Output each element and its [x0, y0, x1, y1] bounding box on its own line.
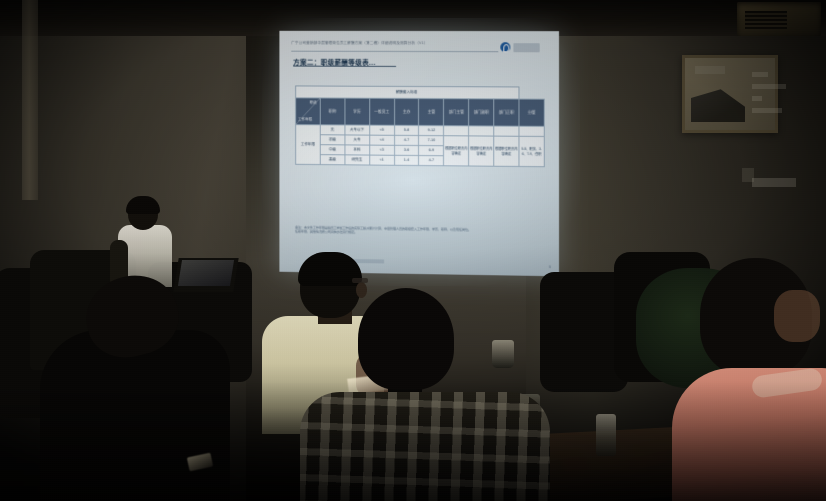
row-value [444, 126, 469, 136]
presentation-slide: 广宁公司营销部中层管理岗位员工薪酬方案（第二稿）详细说明及测算分析（V1） 方案… [279, 31, 559, 276]
row-value-merged: 根据职位职责内容确定 [469, 136, 494, 166]
row-title: 初级 [320, 135, 345, 145]
table-header-cell: 主办 [394, 98, 419, 125]
row-education: 本科 [345, 145, 370, 155]
conference-room-photo: 广宁公司营销部中层管理岗位员工薪酬方案（第二稿）详细说明及测算分析（V1） 方案… [0, 0, 826, 501]
ceiling-light-fixture [737, 2, 821, 36]
table-header-cell: 部门主管 [444, 99, 469, 126]
table-header-cell: 部门副职 [469, 99, 494, 126]
salary-grade-table: 薪酬套入标准 职级 工作年限 职称 学历 一般员工 主办 主管 [295, 85, 545, 167]
table-corner-cell: 职级 工作年限 [296, 98, 321, 125]
footer-logo-icon [331, 255, 342, 266]
row-value [494, 126, 519, 136]
wall-sign-text [752, 72, 802, 118]
row-education: 大专 [345, 135, 370, 145]
table-header-row: 职级 工作年限 职称 学历 一般员工 主办 主管 部门主管 部门副职 部门正职 … [296, 98, 545, 127]
row-value [469, 126, 494, 136]
table-header-cell: 学历 [345, 98, 370, 125]
row-value: <5 [369, 125, 394, 135]
projection-screen: 广宁公司营销部中层管理岗位员工薪酬方案（第二稿）详细说明及测算分析（V1） 方案… [279, 31, 559, 276]
row-value-merged: 5-8、职务、3-6、7-9、任职 [519, 136, 544, 166]
row-group-label: 工作年限 [296, 125, 321, 165]
slide-footnote: 备注：本文件工作年限是指员工参加工作后的实际工龄并累计计算，中层管理人员的职级套… [295, 225, 545, 237]
door-frame-edge [22, 0, 38, 200]
row-value: 1-4 [394, 155, 419, 165]
row-value: 4-7 [419, 156, 444, 166]
row-value-merged: 根据职位职责内容确定 [494, 136, 519, 166]
company-logo-icon [500, 42, 510, 52]
row-value: 7-10 [419, 136, 444, 146]
slide-logo [500, 40, 547, 54]
row-value: <1 [369, 155, 394, 165]
row-value: 5-8 [394, 125, 419, 135]
table-header-cell: 职称 [320, 98, 345, 125]
slide-table-wrapper: 薪酬套入标准 职级 工作年限 职称 学历 一般员工 主办 主管 [295, 85, 545, 167]
picture-image [691, 82, 745, 122]
row-education: 大专以下 [345, 125, 370, 135]
row-value-merged: 根据职位职责内容确定 [444, 136, 469, 166]
row-value: <4 [369, 135, 394, 145]
row-title: 无 [320, 125, 345, 135]
table-header-cell: 部门正职 [494, 99, 519, 126]
corner-bottom-label: 工作年限 [298, 117, 312, 122]
corner-top-label: 职级 [310, 100, 317, 105]
table-header-cell: 分管 [519, 99, 544, 126]
slide-footer-logo [331, 255, 388, 268]
row-value: 3-6 [394, 145, 419, 155]
row-value: 4-7 [394, 135, 419, 145]
picture-caption-mark [695, 66, 725, 74]
row-title: 高级 [320, 155, 345, 165]
row-value: <3 [369, 145, 394, 155]
row-title: 中级 [320, 145, 345, 155]
company-logo-wordmark [513, 43, 539, 52]
slide-header-rule [291, 51, 498, 53]
slide-title-underline [293, 66, 396, 67]
row-education: 研究生 [345, 155, 370, 165]
row-value [519, 126, 544, 136]
row-value: 9-12 [419, 126, 444, 136]
wall-sign [752, 178, 796, 187]
row-value: 6-9 [419, 146, 444, 156]
table-header-cell: 主管 [419, 99, 444, 126]
footer-logo-wordmark [344, 259, 384, 264]
slide-page-number: 5 [549, 265, 551, 269]
table-header-cell: 一般员工 [369, 98, 394, 125]
